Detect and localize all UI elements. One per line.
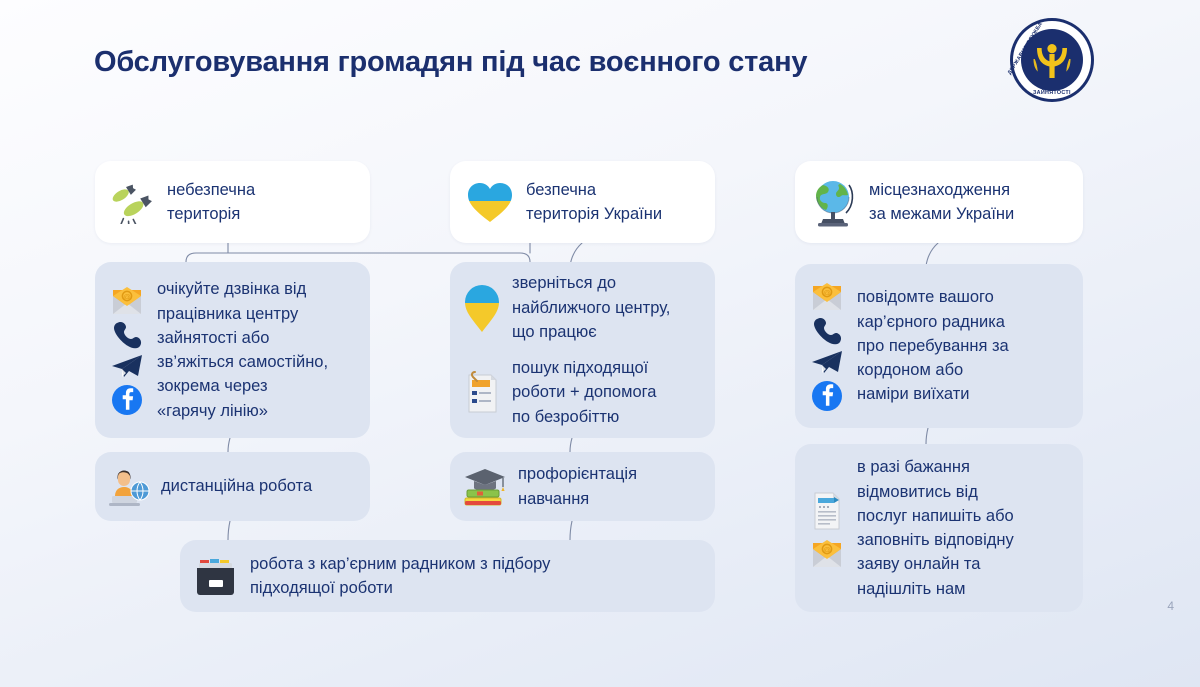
header-card-dangerous-territory[interactable]: небезпечна територія — [95, 161, 370, 243]
clipboard-document-icon — [462, 369, 502, 415]
contact-channel-icons: @ — [107, 284, 147, 417]
clipboard-icon-group — [462, 369, 502, 415]
phone-icon — [810, 315, 844, 345]
globe-icon — [809, 176, 859, 228]
card-career-guidance[interactable]: профорієнтація навчання — [450, 452, 715, 521]
header-card-abroad[interactable]: місцезнаходження за межами України — [795, 161, 1083, 243]
header-label-safe-territory: безпечна територія України — [526, 178, 662, 227]
email-icon: @ — [807, 537, 847, 569]
telegram-icon — [109, 352, 145, 380]
header-icon-group — [464, 179, 516, 225]
page-number: 4 — [1167, 599, 1174, 613]
email-icon: @ — [107, 284, 147, 316]
facebook-icon — [810, 379, 844, 413]
remote-worker-icon — [107, 466, 151, 508]
card-remote-work[interactable]: дистанційна робота — [95, 452, 370, 521]
header-icon-group — [109, 180, 157, 224]
process-flow-diagram: небезпечна територія @ — [0, 0, 1200, 687]
map-pin-icon-group — [462, 283, 502, 333]
header-label-dangerous-territory: небезпечна територія — [167, 178, 255, 227]
card-await-call[interactable]: @ очікуйте дзвінка від працівника центру… — [95, 262, 370, 438]
contact-channel-icons: @ — [807, 280, 847, 413]
svg-text:@: @ — [823, 545, 831, 554]
job-search-row: пошук підходящої роботи + допомога по бе… — [462, 356, 701, 429]
card-text-job-search: пошук підходящої роботи + допомога по бе… — [512, 356, 656, 429]
card-career-advisor-job-matching[interactable]: робота з кар’єрним радником з підбору пі… — [180, 540, 715, 612]
card-index-icon-group — [192, 554, 240, 598]
card-index-box-icon — [192, 554, 240, 598]
ukraine-heart-icon — [464, 179, 516, 225]
svg-text:@: @ — [823, 288, 831, 297]
card-text-await-call: очікуйте дзвінка від працівника центру з… — [157, 277, 328, 423]
remote-work-icon-group — [107, 466, 151, 508]
header-label-abroad: місцезнаходження за межами України — [869, 178, 1014, 227]
card-text-career-guidance: профорієнтація навчання — [518, 462, 637, 511]
svg-text:@: @ — [123, 292, 131, 301]
email-icon: @ — [807, 280, 847, 312]
telegram-icon — [809, 348, 845, 376]
map-pin-ukraine-icon — [462, 283, 502, 333]
card-text-refuse-services: в разі бажання відмовитись від послуг на… — [857, 455, 1014, 601]
card-visit-center[interactable]: зверніться до найближчого центру, що пра… — [450, 262, 715, 438]
visit-center-row: зверніться до найближчого центру, що пра… — [462, 271, 701, 344]
card-text-career-advisor-job-matching: робота з кар’єрним радником з підбору пі… — [250, 552, 550, 601]
education-icon-group — [462, 465, 508, 509]
document-icon — [807, 488, 847, 534]
card-text-notify-advisor: повідомте вашого кар’єрного радника про … — [857, 285, 1009, 406]
header-icon-group — [809, 176, 859, 228]
card-refuse-services[interactable]: @ в разі бажання відмовитись від послуг … — [795, 444, 1083, 612]
facebook-icon — [110, 383, 144, 417]
card-notify-advisor[interactable]: @ повідомте вашого кар’єрного радника пр… — [795, 264, 1083, 428]
card-text-visit-center: зверніться до найближчого центру, що пра… — [512, 271, 670, 344]
graduation-books-icon — [462, 465, 508, 509]
card-text-remote-work: дистанційна робота — [161, 474, 312, 498]
bomb-icon — [109, 180, 157, 224]
phone-icon — [110, 319, 144, 349]
header-card-safe-territory[interactable]: безпечна територія України — [450, 161, 715, 243]
document-mail-icon-group: @ — [807, 488, 847, 569]
